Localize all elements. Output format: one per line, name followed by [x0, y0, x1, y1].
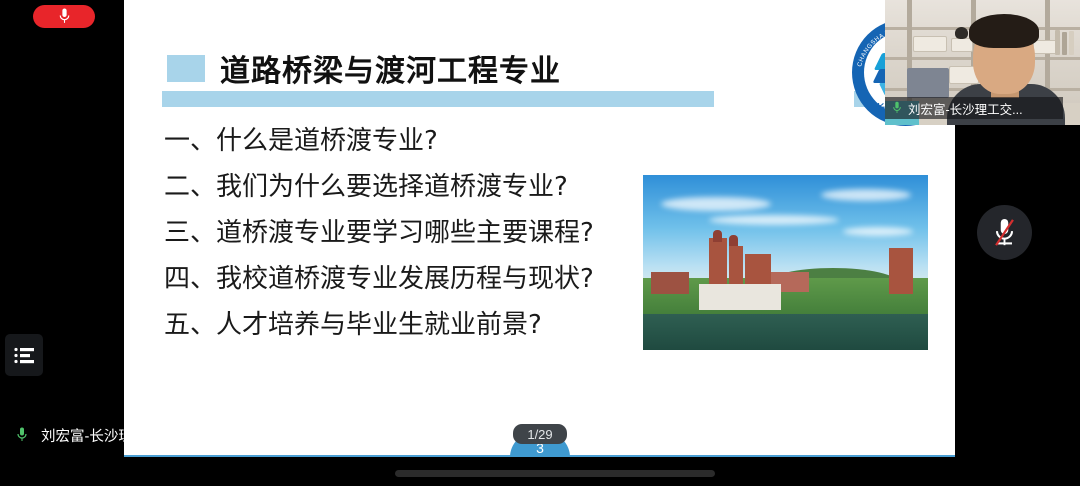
meeting-screen-share-window: 道路桥梁与渡河工程专业 CHANGSHA UNIVERSITY OF SCIEN… [0, 0, 1080, 486]
building-shape [889, 248, 913, 294]
storage-box [913, 36, 947, 52]
list-item: 一、什么是道桥渡专业? [164, 128, 684, 154]
slide-bullet-list: 一、什么是道桥渡专业? 二、我们为什么要选择道桥渡专业? 三、道桥渡专业要学习哪… [164, 128, 684, 358]
participants-list-button[interactable] [5, 334, 43, 376]
microphone-muted-icon [993, 218, 1016, 248]
list-item: 三、道桥渡专业要学习哪些主要课程? [164, 220, 684, 246]
microphone-icon [16, 427, 28, 443]
list-menu-icon [14, 347, 34, 364]
monitor-shape [907, 68, 949, 98]
cloud-shape [821, 189, 911, 201]
video-participant-name: 刘宏富-长沙理工交... [908, 99, 1023, 118]
microphone-icon [892, 101, 902, 115]
cloud-shape [661, 197, 771, 211]
building-shape [651, 272, 689, 294]
recording-mic-button[interactable] [33, 5, 95, 28]
cloud-shape [843, 227, 913, 236]
microphone-icon [58, 8, 71, 25]
title-underline-bar [162, 91, 714, 107]
cloud-shape [709, 215, 839, 225]
list-item: 五、人才培养与毕业生就业前景? [164, 312, 684, 338]
list-item: 二、我们为什么要选择道桥渡专业? [164, 174, 684, 200]
participant-video-tile[interactable]: 刘宏富-长沙理工交... [885, 0, 1080, 125]
person-hair [969, 14, 1039, 48]
page-tooltip: 1/29 [513, 424, 567, 444]
screen-share-label: 刘宏富-长沙理工交通学院的屏幕共享 [41, 424, 278, 446]
lake-shape [643, 314, 928, 350]
video-name-label: 刘宏富-长沙理工交... [885, 97, 1063, 119]
left-toolbar-rail [0, 0, 124, 486]
main-hall-shape [699, 284, 781, 310]
list-item: 四、我校道桥渡专业发展历程与现状? [164, 266, 684, 292]
tower-shape [713, 230, 722, 242]
book-shape [1062, 32, 1067, 55]
bottom-scroll-indicator[interactable] [395, 470, 715, 477]
title-accent-square [167, 55, 205, 82]
slide-title: 道路桥梁与渡河工程专业 [220, 46, 561, 90]
slide-title-row: 道路桥梁与渡河工程专业 [167, 46, 561, 90]
book-shape [1055, 30, 1060, 55]
building-shape [709, 238, 727, 290]
mute-toggle-button[interactable] [977, 205, 1032, 260]
campus-photo [643, 175, 928, 350]
book-shape [1069, 31, 1074, 55]
shared-slide: 道路桥梁与渡河工程专业 CHANGSHA UNIVERSITY OF SCIEN… [124, 0, 955, 457]
lamp-shape [955, 27, 968, 39]
tower-shape [729, 235, 738, 246]
